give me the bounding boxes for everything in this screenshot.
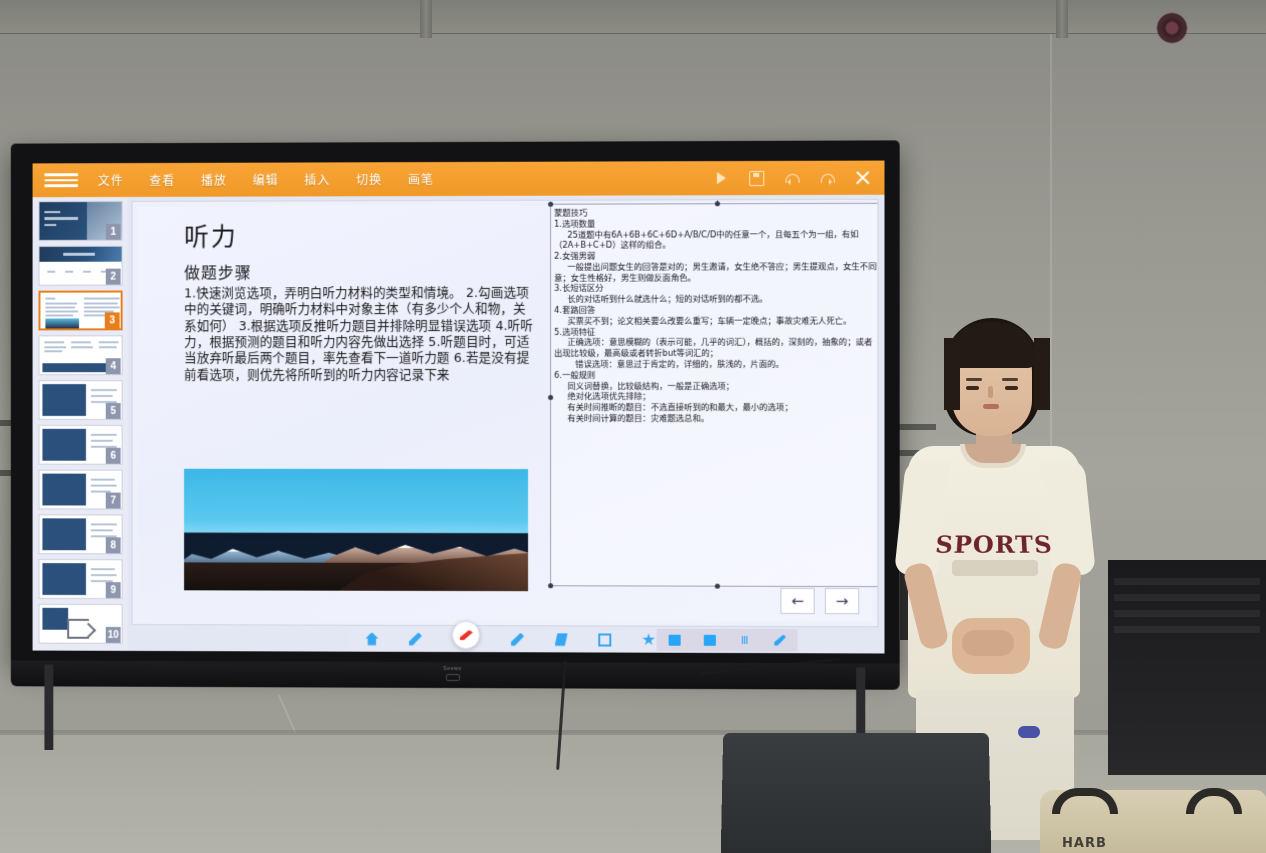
shape-tool-icon[interactable] bbox=[598, 633, 611, 646]
highlighter-tool-icon[interactable] bbox=[511, 633, 524, 646]
resize-handle-w[interactable] bbox=[548, 395, 553, 400]
thumbnail-number: 5 bbox=[106, 403, 121, 419]
hair-side bbox=[944, 338, 960, 410]
thumbnail-number: 4 bbox=[106, 358, 121, 374]
thumbnail-slide-7[interactable]: 7 bbox=[38, 470, 122, 510]
rect-tool-icon[interactable] bbox=[703, 634, 715, 645]
pen-tool-icon[interactable] bbox=[409, 632, 422, 645]
next-slide-button[interactable]: → bbox=[825, 588, 859, 614]
close-icon[interactable] bbox=[855, 170, 870, 185]
wall-ornament-icon bbox=[1152, 8, 1192, 48]
thumbnail-number: 2 bbox=[106, 269, 121, 285]
resize-handle-n[interactable] bbox=[714, 201, 719, 206]
nose bbox=[988, 386, 993, 398]
menu-file[interactable]: 文件 bbox=[98, 172, 124, 189]
slide-canvas-area: 听力 做题步骤 1.快速浏览选项，弄明白听力材料的类型和情境。 2.勾画选项中的… bbox=[128, 195, 885, 654]
star-tool-icon[interactable] bbox=[642, 633, 655, 646]
chair bbox=[721, 733, 991, 853]
slide-photo-mountain bbox=[184, 469, 528, 591]
shirt-graphic bbox=[952, 560, 1038, 576]
eraser-tool-icon[interactable] bbox=[774, 635, 786, 646]
thumbnail-slide-10[interactable]: 10 bbox=[38, 604, 122, 644]
selected-textbox[interactable]: 蒙题技巧 1.选项数量 25道题中有6A+6B+6C+6D+A/B/C/D中的任… bbox=[551, 204, 878, 586]
undo-icon[interactable] bbox=[784, 170, 799, 185]
current-slide[interactable]: 听力 做题步骤 1.快速浏览选项，弄明白听力材料的类型和情境。 2.勾画选项中的… bbox=[132, 199, 879, 628]
thumbnail-slide-4[interactable]: 4 bbox=[38, 335, 122, 375]
toolbar-actions bbox=[714, 170, 870, 186]
textbox-content: 蒙题技巧 1.选项数量 25道题中有6A+6B+6C+6D+A/B/C/D中的任… bbox=[551, 204, 878, 424]
resize-handle-s[interactable] bbox=[714, 584, 719, 589]
save-icon[interactable] bbox=[749, 170, 764, 185]
menu-transition[interactable]: 切换 bbox=[356, 171, 382, 188]
thumbnail-slide-3[interactable]: 3 bbox=[38, 291, 122, 331]
app-toolbar: 文件 查看 播放 编辑 插入 切换 画笔 bbox=[33, 161, 885, 198]
display-brand-logo: Seewo bbox=[443, 666, 461, 672]
menu-play[interactable]: 播放 bbox=[201, 171, 227, 188]
prev-slide-button[interactable]: ← bbox=[780, 588, 814, 614]
text-tool-icon[interactable]: Ⅲ bbox=[739, 634, 751, 645]
red-pen-button[interactable] bbox=[452, 621, 480, 649]
slide-thumbnail-panel[interactable]: 1 2 bbox=[33, 197, 128, 651]
thumbnail-number: 9 bbox=[106, 582, 121, 598]
screen: 文件 查看 播放 编辑 插入 切换 画笔 bbox=[33, 161, 885, 654]
menu-pen[interactable]: 画笔 bbox=[408, 171, 434, 188]
thumbnail-number: 8 bbox=[106, 537, 121, 553]
thumbnail-slide-5[interactable]: 5 bbox=[38, 380, 122, 420]
thumbnail-number: 1 bbox=[106, 224, 121, 240]
slide-title: 听力 bbox=[184, 217, 535, 254]
resize-handle-sw[interactable] bbox=[548, 583, 553, 588]
fill-tool-icon[interactable] bbox=[668, 634, 680, 645]
thumbnail-slide-9[interactable]: 9 bbox=[38, 559, 122, 599]
export-icon[interactable] bbox=[67, 619, 89, 639]
home-tool-icon[interactable] bbox=[365, 632, 378, 645]
ceiling-band bbox=[0, 0, 1266, 34]
side-cabinet bbox=[1108, 560, 1266, 775]
display-stand-leg bbox=[44, 665, 53, 751]
menu-edit[interactable]: 编辑 bbox=[253, 171, 279, 188]
app-body: 1 2 bbox=[33, 195, 885, 654]
play-icon[interactable] bbox=[714, 171, 729, 186]
thumbnail-slide-6[interactable]: 6 bbox=[38, 425, 122, 465]
mouth bbox=[983, 404, 999, 409]
pointer-tool-icon[interactable] bbox=[555, 633, 568, 646]
thumbnail-slide-1[interactable]: 1 bbox=[38, 201, 122, 241]
resize-handle-nw[interactable] bbox=[548, 202, 553, 207]
thumbnail-number: 3 bbox=[105, 312, 120, 328]
thumbnail-number: 6 bbox=[106, 448, 121, 464]
shorts-badge bbox=[1018, 726, 1040, 738]
slide-steps-text: 1.快速浏览选项，弄明白听力材料的类型和情境。 2.勾画选项中的关键词，明确听力… bbox=[184, 285, 535, 383]
ceiling-pipe bbox=[1056, 0, 1068, 38]
thumbnail-number: 10 bbox=[106, 627, 121, 643]
bag-text: HARB bbox=[1062, 836, 1107, 851]
slide-subtitle: 做题步骤 bbox=[184, 259, 535, 284]
thumbnail-slide-2[interactable]: 2 bbox=[38, 246, 122, 286]
classroom-scene: Seewo 文件 查看 播放 编辑 插入 切换 画笔 bbox=[0, 0, 1266, 853]
display-power-button[interactable] bbox=[446, 674, 460, 681]
thumbnail-number: 7 bbox=[106, 493, 121, 509]
redo-icon[interactable] bbox=[820, 170, 835, 185]
pen-toolbar[interactable] bbox=[350, 628, 670, 651]
menu-bar: 文件 查看 播放 编辑 插入 切换 画笔 bbox=[98, 171, 434, 189]
menu-view[interactable]: 查看 bbox=[149, 171, 175, 188]
interactive-whiteboard-display: Seewo 文件 查看 播放 编辑 插入 切换 画笔 bbox=[11, 140, 900, 667]
shirt-text: SPORTS bbox=[926, 531, 1061, 559]
hair-side bbox=[1034, 338, 1050, 410]
hamburger-menu-icon[interactable] bbox=[44, 174, 78, 187]
thumbnail-slide-8[interactable]: 8 bbox=[38, 514, 122, 554]
hands bbox=[952, 618, 1030, 674]
menu-insert[interactable]: 插入 bbox=[304, 171, 330, 188]
ceiling-pipe bbox=[420, 0, 432, 38]
slide-left-column: 听力 做题步骤 1.快速浏览选项，弄明白听力材料的类型和情境。 2.勾画选项中的… bbox=[184, 217, 535, 383]
secondary-pen-toolbar[interactable]: Ⅲ bbox=[657, 629, 798, 652]
